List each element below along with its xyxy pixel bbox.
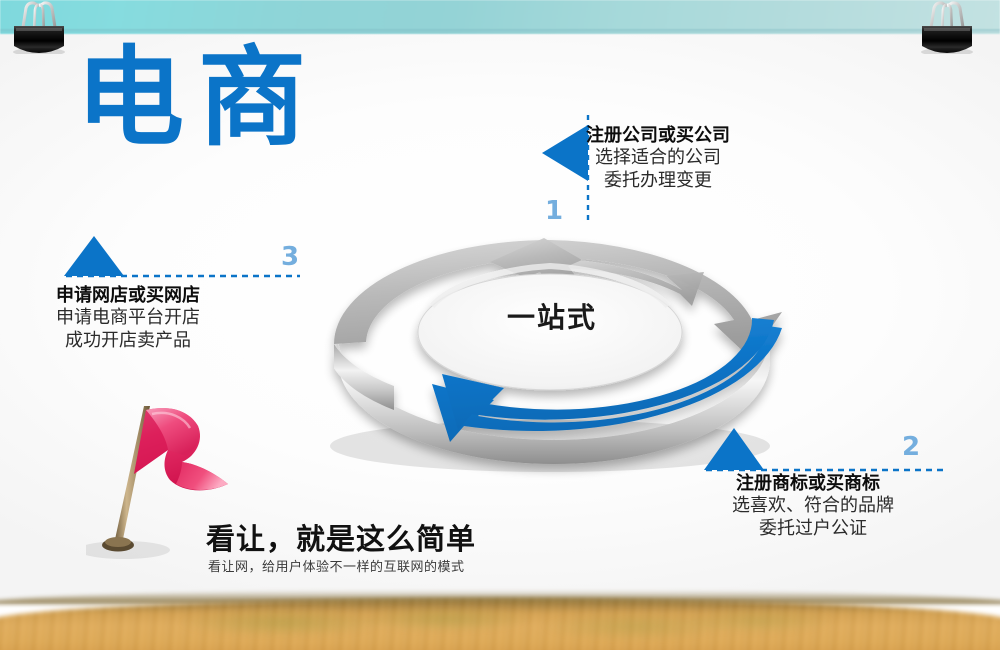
step-1-block: 注册公司或买公司 选择适合的公司 委托办理变更 [586, 124, 730, 192]
cycle-center-label: 一站式 [282, 296, 822, 336]
step-1-number: 1 [545, 198, 563, 224]
step-1-line-2: 委托办理变更 [586, 169, 730, 192]
step-2-number: 2 [902, 434, 920, 460]
step-3-title: 申请网店或买网店 [56, 284, 200, 306]
binder-clip-right [916, 0, 978, 54]
step-3-line-1: 申请电商平台开店 [56, 306, 200, 329]
binder-clip-left [8, 0, 70, 54]
tagline-sub: 看让网，给用户体验不一样的互联网的模式 [208, 556, 465, 575]
step-3-number: 3 [281, 244, 299, 270]
step-3-line-2: 成功开店卖产品 [56, 329, 200, 352]
step-2-line-1: 选喜欢、符合的品牌 [732, 494, 894, 517]
triangle-up-icon [704, 428, 764, 470]
wheat-field-band [0, 592, 1000, 650]
triangle-left-icon [542, 125, 588, 181]
step-3-block: 申请网店或买网店 申请电商平台开店 成功开店卖产品 [56, 284, 200, 352]
step-1-title: 注册公司或买公司 [586, 124, 730, 146]
step-3-marker [62, 232, 302, 280]
sky-band [0, 0, 1000, 34]
step-2-block: 注册商标或买商标 选喜欢、符合的品牌 委托过户公证 [732, 472, 894, 540]
tagline-main: 看让，就是这么简单 [206, 516, 476, 558]
step-2-line-2: 委托过户公证 [732, 517, 894, 540]
poster-canvas: 电商 [0, 0, 1000, 650]
step-2-title: 注册商标或买商标 [736, 472, 894, 494]
step-1-line-1: 选择适合的公司 [586, 146, 730, 169]
wheat-field-green-patches [160, 606, 840, 640]
page-title: 电商 [76, 44, 320, 152]
triangle-up-icon [64, 236, 124, 276]
